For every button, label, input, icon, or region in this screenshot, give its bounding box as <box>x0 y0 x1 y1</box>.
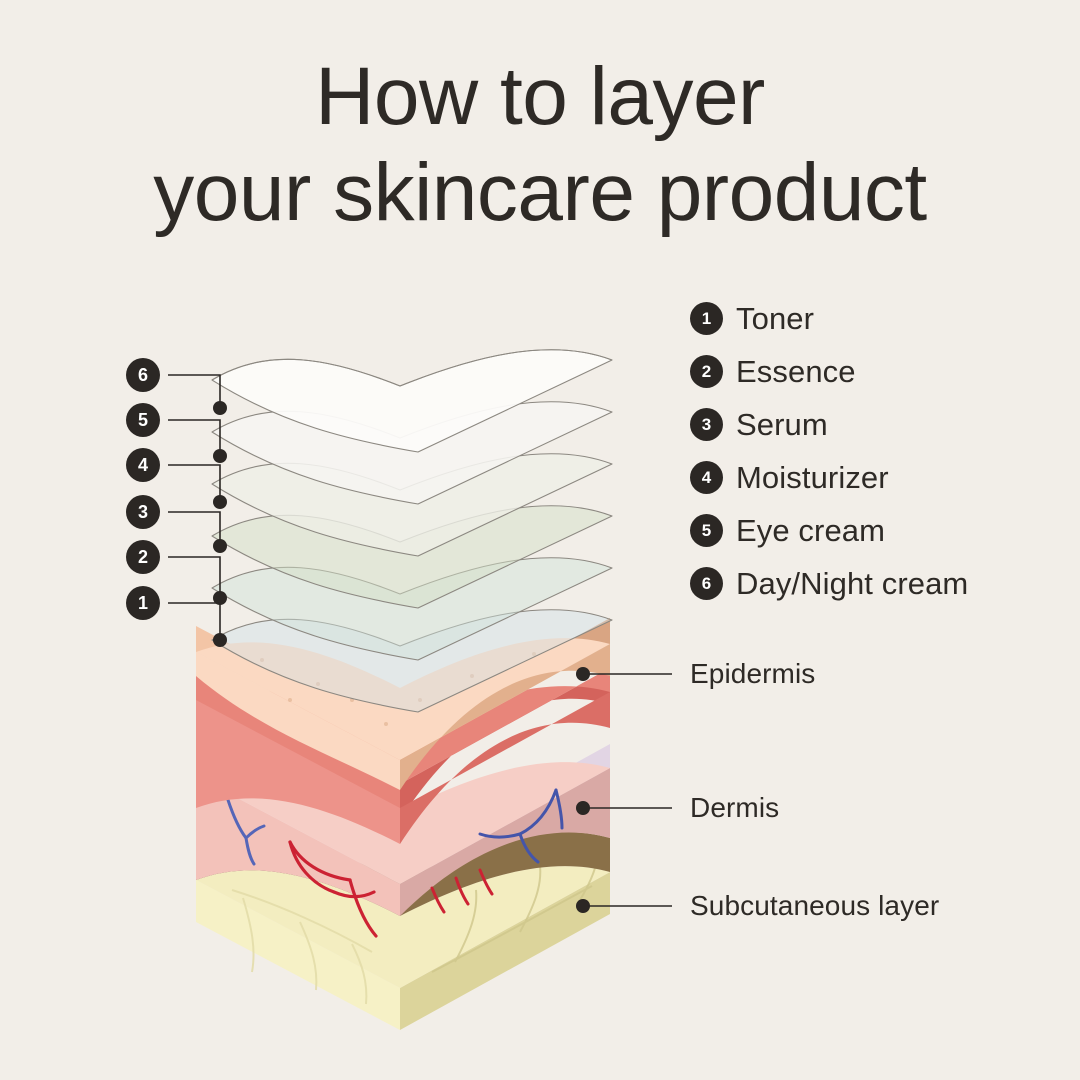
legend-item-label: Toner <box>736 301 814 337</box>
legend-item-toner[interactable]: 1 Toner <box>690 298 968 339</box>
anatomy-label-subcutaneous: Subcutaneous layer <box>690 890 939 922</box>
legend-item-label: Essence <box>736 354 856 390</box>
badge-number: 1 <box>126 586 160 620</box>
legend-item-eye-cream[interactable]: 5 Eye cream <box>690 510 968 551</box>
badge-number: 6 <box>126 358 160 392</box>
callout-badge-2[interactable]: 2 <box>126 540 160 574</box>
legend-item-label: Eye cream <box>736 513 885 549</box>
badge-number: 2 <box>690 355 723 388</box>
legend-item-label: Serum <box>736 407 828 443</box>
badge-number: 5 <box>126 403 160 437</box>
legend-item-day-night-cream[interactable]: 6 Day/Night cream <box>690 563 968 604</box>
badge-number: 3 <box>690 408 723 441</box>
badge-number: 3 <box>126 495 160 529</box>
badge-number: 1 <box>690 302 723 335</box>
badge-number: 5 <box>690 514 723 547</box>
anatomy-label-epidermis: Epidermis <box>690 658 815 690</box>
callout-badge-3[interactable]: 3 <box>126 495 160 529</box>
legend-item-essence[interactable]: 2 Essence <box>690 351 968 392</box>
callout-badge-1[interactable]: 1 <box>126 586 160 620</box>
legend-item-serum[interactable]: 3 Serum <box>690 404 968 445</box>
callout-leader-lines <box>168 375 220 640</box>
badge-number: 4 <box>126 448 160 482</box>
callout-badge-6[interactable]: 6 <box>126 358 160 392</box>
callout-badge-5[interactable]: 5 <box>126 403 160 437</box>
badge-number: 2 <box>126 540 160 574</box>
badge-number: 4 <box>690 461 723 494</box>
infographic-canvas: How to layer your skincare product <box>0 0 1080 1080</box>
badge-number: 6 <box>690 567 723 600</box>
legend-item-label: Day/Night cream <box>736 566 968 602</box>
anatomy-label-dermis: Dermis <box>690 792 779 824</box>
product-order-legend: 1 Toner 2 Essence 3 Serum 4 Moisturizer … <box>690 298 968 604</box>
legend-item-label: Moisturizer <box>736 460 889 496</box>
callout-badge-4[interactable]: 4 <box>126 448 160 482</box>
legend-item-moisturizer[interactable]: 4 Moisturizer <box>690 457 968 498</box>
